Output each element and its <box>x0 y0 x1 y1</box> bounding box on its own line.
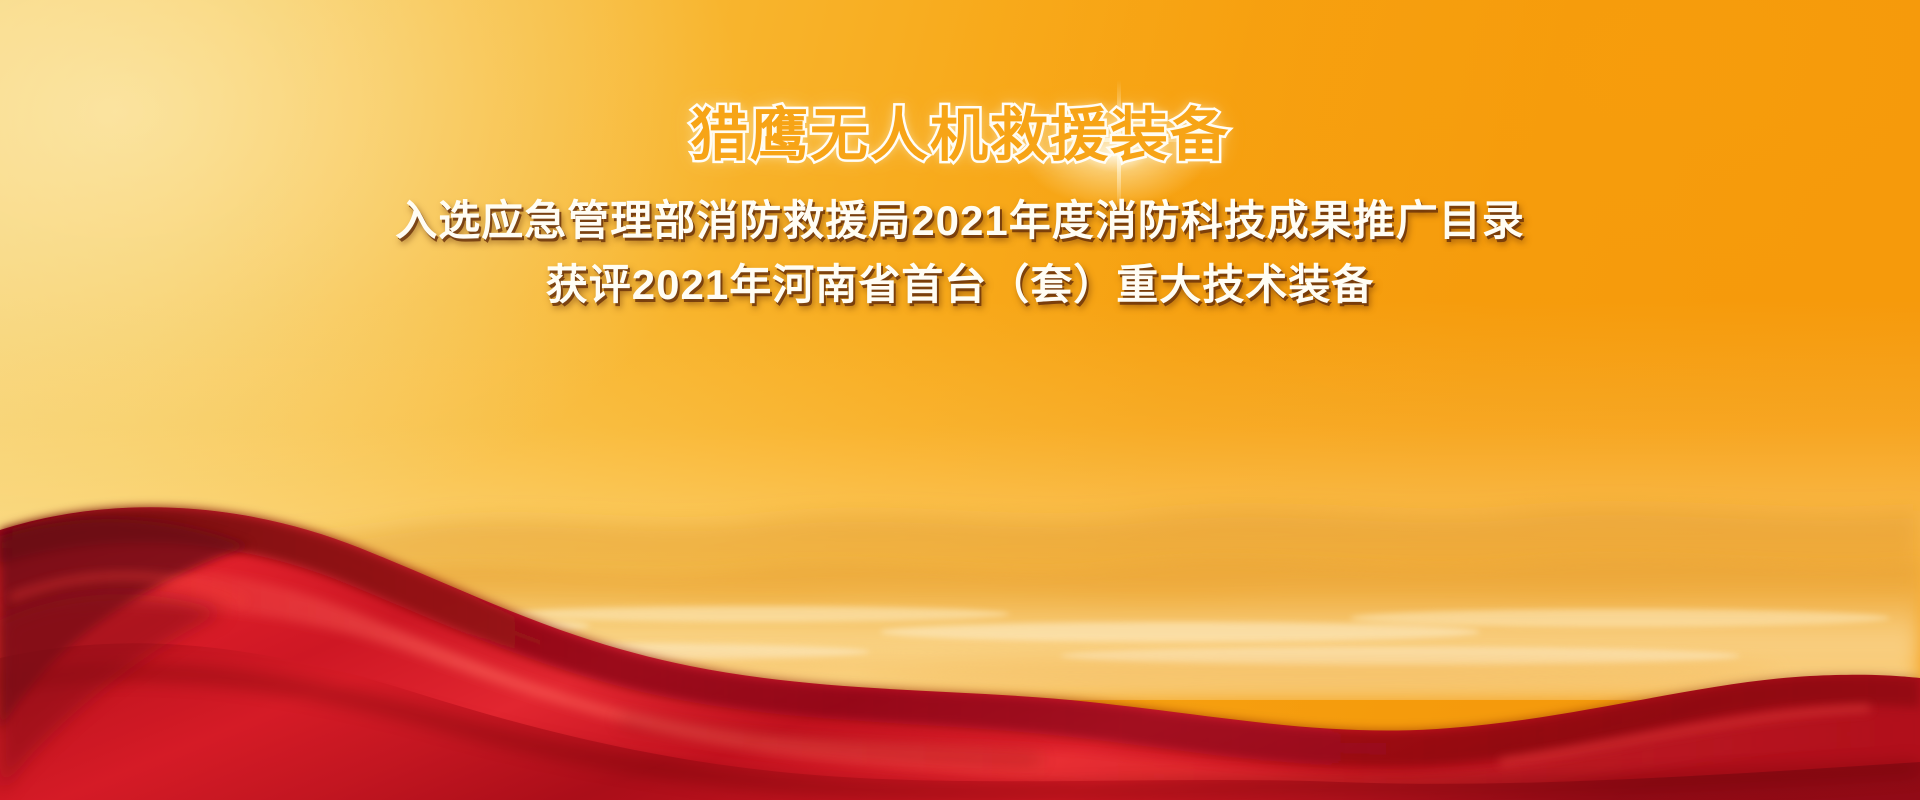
promo-banner: 猎鹰无人机救援装备 入选应急管理部消防救援局2021年度消防科技成果推广目录 获… <box>0 0 1920 800</box>
subtitle-line-2: 获评2021年河南省首台（套）重大技术装备 <box>0 255 1920 315</box>
red-silk-ribbon <box>0 470 1920 800</box>
subtitle-line-1: 入选应急管理部消防救援局2021年度消防科技成果推广目录 <box>0 191 1920 251</box>
page-title: 猎鹰无人机救援装备 <box>0 104 1920 169</box>
headline-block: 猎鹰无人机救援装备 入选应急管理部消防救援局2021年度消防科技成果推广目录 获… <box>0 104 1920 314</box>
